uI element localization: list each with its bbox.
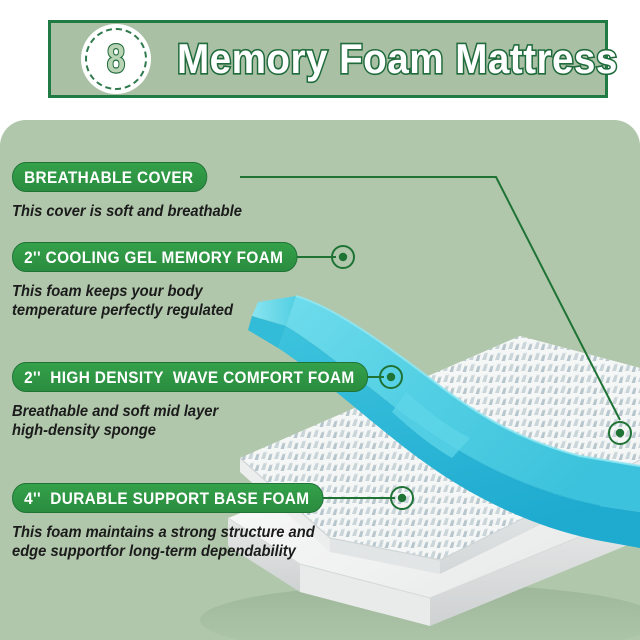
number-badge: 8 [77, 20, 155, 98]
badge-number: 8 [87, 24, 144, 94]
layer-label-durable-support-base-foam[interactable]: 4'' DURABLE SUPPORT BASE FOAM [12, 483, 323, 513]
main-panel: BREATHABLE COVER This cover is soft and … [0, 120, 640, 640]
layer-label-high-density-wave-comfort-foam[interactable]: 2'' HIGH DENSITY WAVE COMFORT FOAM [12, 362, 368, 392]
header-banner: 8 Memory Foam Mattress [48, 20, 608, 98]
page-title: Memory Foam Mattress [177, 35, 618, 83]
callout-cooling-gel-memory-foam[interactable]: 2'' COOLING GEL MEMORY FOAM This foam ke… [12, 242, 319, 320]
callout-durable-support-base-foam[interactable]: 4'' DURABLE SUPPORT BASE FOAM This foam … [12, 483, 347, 561]
layer-description-breathable-cover: This cover is soft and breathable [12, 202, 242, 221]
layer-label-breathable-cover[interactable]: BREATHABLE COVER [12, 162, 207, 192]
callout-breathable-cover[interactable]: BREATHABLE COVER This cover is soft and … [12, 162, 254, 221]
layer-description-cooling-gel-memory-foam: This foam keeps your body temperature pe… [12, 282, 303, 320]
layer-description-durable-support-base-foam: This foam maintains a strong structure a… [12, 523, 330, 561]
infographic-poster: 8 Memory Foam Mattress [0, 0, 640, 640]
layer-description-high-density-wave-comfort-foam: Breathable and soft mid layer high-densi… [12, 402, 376, 440]
callout-high-density-wave-comfort-foam[interactable]: 2'' HIGH DENSITY WAVE COMFORT FOAM Breat… [12, 362, 395, 440]
layer-label-cooling-gel-memory-foam[interactable]: 2'' COOLING GEL MEMORY FOAM [12, 242, 297, 272]
